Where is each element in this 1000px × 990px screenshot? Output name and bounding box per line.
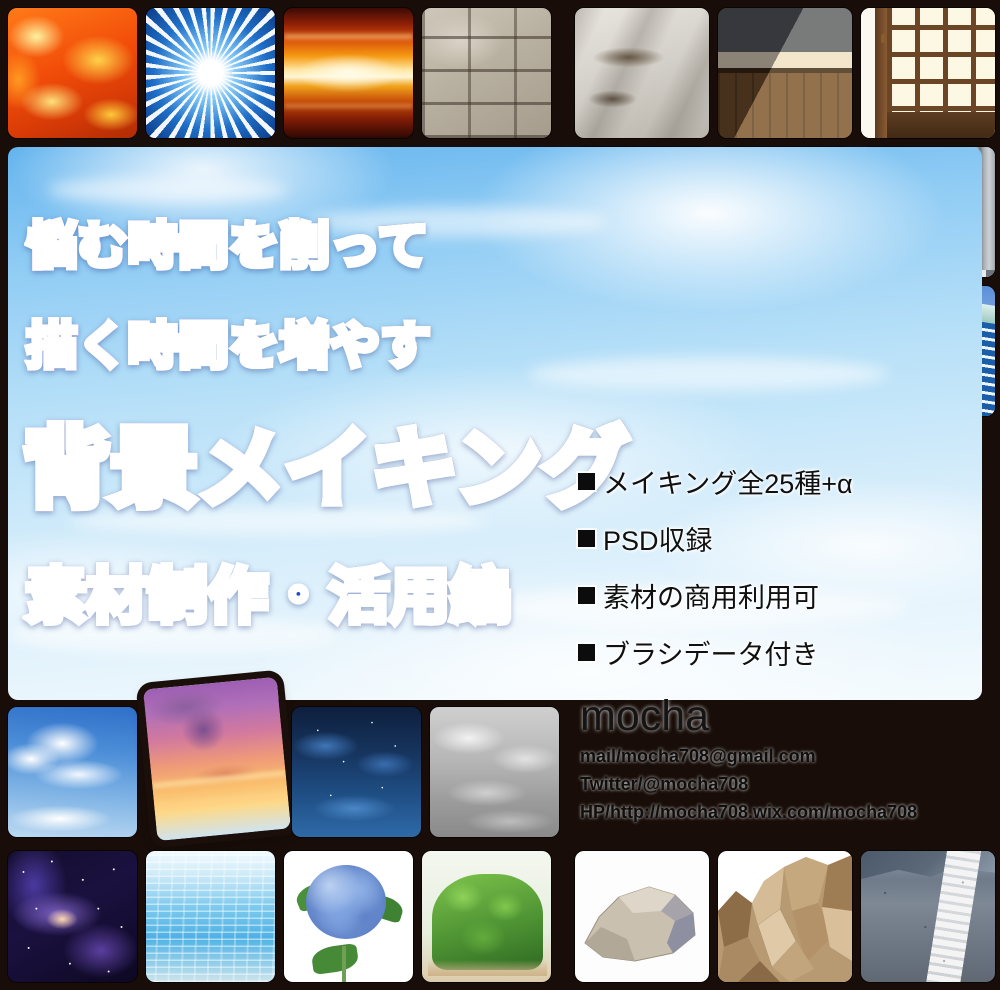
feature-label: 素材の商用利用可 xyxy=(603,576,819,615)
sunset-cloud-streak xyxy=(284,34,413,39)
galaxy-stars xyxy=(8,851,137,982)
grey-clouds-art xyxy=(430,707,559,837)
fire-texture-art xyxy=(8,8,137,138)
cloud-wisp-3 xyxy=(528,357,888,391)
single-rock-thumbnail xyxy=(575,851,709,982)
grey-clouds-thumbnail xyxy=(430,707,559,837)
water-ripples xyxy=(146,851,275,982)
bush-foliage xyxy=(432,874,543,970)
feature-label: メイキング全25種+α xyxy=(603,462,853,501)
shoji-wall-strip xyxy=(861,8,875,138)
page-subtitle: 素材制作・活用編 xyxy=(26,548,511,635)
asphalt-road-thumbnail xyxy=(861,851,995,982)
stone-brick-wall-thumbnail xyxy=(422,8,551,138)
galaxy-thumbnail xyxy=(8,851,137,982)
square-bullet-icon xyxy=(578,644,595,661)
sunset-sea-thumbnail xyxy=(284,8,413,138)
blue-sky-clouds-art xyxy=(8,707,137,837)
light-burst-thumbnail xyxy=(146,8,275,138)
cracked-concrete-thumbnail xyxy=(575,8,709,138)
bush-ground xyxy=(428,960,547,976)
contact-mail[interactable]: mail/mocha708@gmail.com xyxy=(580,743,980,771)
square-bullet-icon xyxy=(578,587,595,604)
hydrangea-bloom xyxy=(306,865,386,939)
wood-wall-shadow xyxy=(718,8,852,138)
feature-label: ブラシデータ付き xyxy=(603,633,818,672)
list-item: 素材の商用利用可 xyxy=(578,576,978,615)
list-item: PSD収録 xyxy=(578,519,978,558)
feature-label: PSD収録 xyxy=(603,519,713,558)
fire-texture-thumbnail xyxy=(8,8,137,138)
blue-sky-clouds-thumbnail xyxy=(8,707,137,837)
bush-thumbnail xyxy=(422,851,551,982)
asphalt-grain xyxy=(861,851,995,982)
list-item: ブラシデータ付き xyxy=(578,633,978,672)
night-sky-thumbnail xyxy=(292,707,421,837)
single-rock-shape xyxy=(575,851,709,982)
sunset-sky-thumbnail xyxy=(143,677,291,841)
sunset-sky-art xyxy=(143,677,291,841)
headline-line-2: 描く時間を増やす xyxy=(27,306,431,378)
author-name: mocha xyxy=(580,694,980,739)
hydrangea-stem xyxy=(342,946,346,982)
square-bullet-icon xyxy=(578,473,595,490)
shoji-base-rail xyxy=(887,112,995,138)
square-bullet-icon xyxy=(578,530,595,547)
contact-twitter[interactable]: Twitter/@mocha708 xyxy=(580,771,980,799)
water-surface-thumbnail xyxy=(146,851,275,982)
page-title: 背景メイキング xyxy=(24,398,629,523)
stone-brick-wall-art xyxy=(422,8,551,138)
headline-line-1: 悩む時間を削って xyxy=(27,206,429,278)
burst-core xyxy=(188,50,234,96)
list-item: メイキング全25種+α xyxy=(578,462,978,501)
night-sky-stars xyxy=(292,707,421,837)
wood-panel-wall-thumbnail xyxy=(718,8,852,138)
cracked-concrete-art xyxy=(575,8,709,138)
shoji-handle-icon xyxy=(881,34,885,43)
feature-list: メイキング全25種+α PSD収録 素材の商用利用可 ブラシデータ付き xyxy=(578,462,978,690)
shoji-post xyxy=(875,8,887,138)
contact-block: mocha mail/mocha708@gmail.com Twitter/@m… xyxy=(580,694,980,827)
sunset-water-streak xyxy=(284,104,413,108)
poster-root: 悩む時間を削って 描く時間を増やす 背景メイキング 素材制作・活用編 メイキング… xyxy=(0,0,1000,990)
rock-cliff-thumbnail xyxy=(718,851,852,982)
cloud-wisp-1 xyxy=(48,177,288,203)
sunset-sea-art xyxy=(284,8,413,138)
hydrangea-thumbnail xyxy=(284,851,413,982)
contact-homepage[interactable]: HP/http://mocha708.wix.com/mocha708 xyxy=(580,799,980,827)
shoji-screen-thumbnail xyxy=(861,8,995,138)
rock-cliff-shape xyxy=(718,851,852,982)
